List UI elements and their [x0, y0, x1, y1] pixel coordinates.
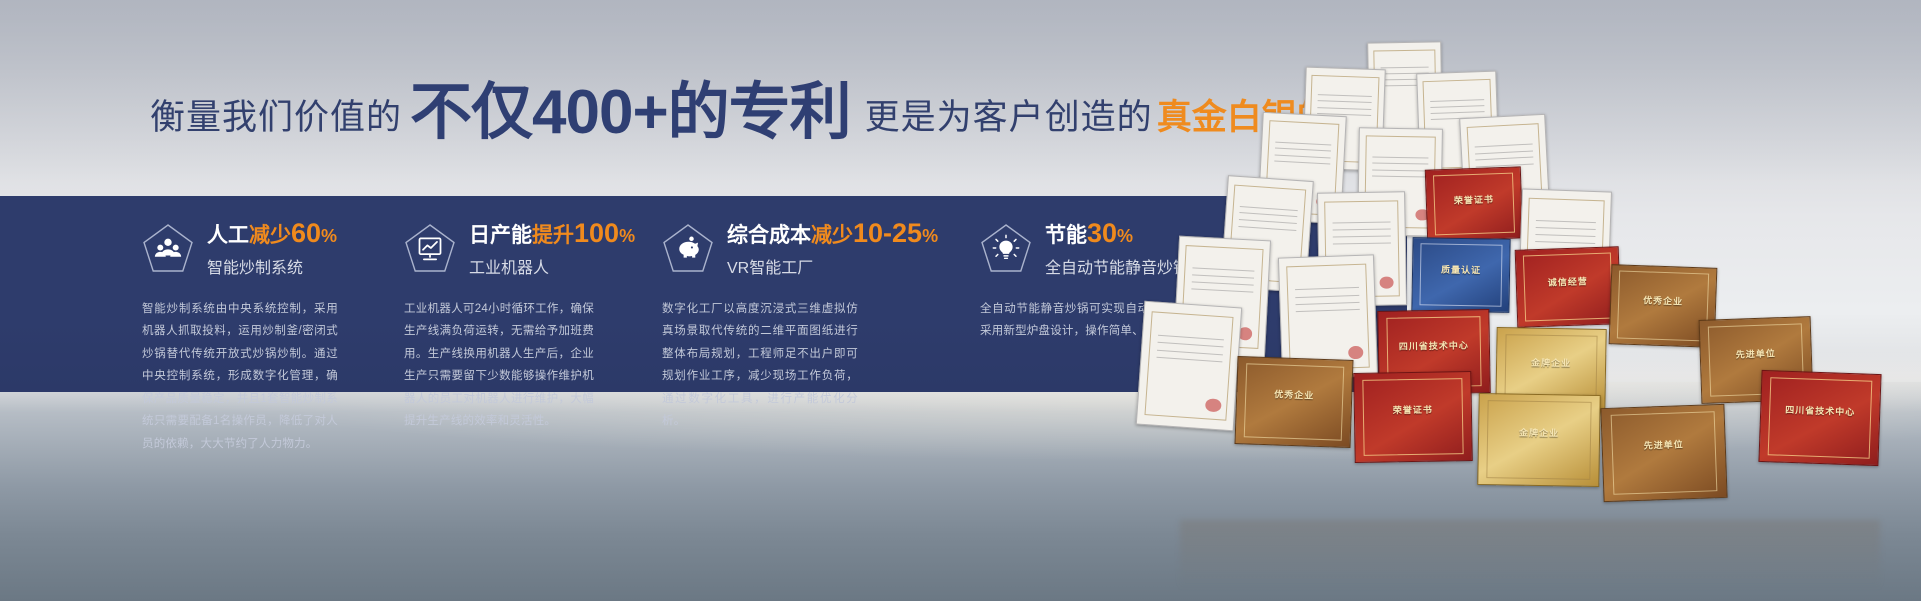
feature-title-action: 减少 [249, 224, 291, 247]
feature-title-value: 10-25 [853, 218, 922, 248]
feature-subtitle: 智能炒制系统 [207, 254, 337, 278]
feature-item-cost: 综合成本减少10-25% VR智能工厂 数字化工厂以高度沉浸式三维虚拟仿真场景取… [662, 196, 930, 392]
chart-board-icon [404, 223, 456, 273]
lightbulb-icon [980, 223, 1032, 273]
feature-title: 综合成本减少10-25% [727, 218, 938, 249]
certificate-label: 四川省技术中心 [1379, 338, 1489, 353]
feature-header: 人工减少60% 智能炒制系统 [142, 220, 408, 276]
feature-title-prefix: 日产能 [469, 224, 532, 247]
banner-stage: 衡量我们价值的 不仅400+的专利 更是为客户创造的 真金白银的效益 [0, 0, 1921, 601]
feature-body: 工业机器人可24小时循环工作，确保生产线满负荷运转，无需给予加班费用。生产线换用… [404, 298, 594, 433]
feature-body: 智能炒制系统由中央系统控制，采用机器人抓取投料，运用炒制釜/密闭式炒锅替代传统开… [142, 298, 338, 455]
certificate-item: 诚信经营 [1515, 246, 1622, 328]
feature-subtitle: VR智能工厂 [727, 254, 938, 278]
feature-body: 数字化工厂以高度沉浸式三维虚拟仿真场景取代传统的二维平面图纸进行整体布局规划，工… [662, 298, 858, 433]
piggy-bank-icon [662, 223, 714, 273]
certificate-label: 质量认证 [1413, 263, 1509, 278]
feature-titles: 日产能提升100% 工业机器人 [469, 218, 635, 278]
feature-subtitle: 工业机器人 [469, 254, 635, 278]
certificate-item: 四川省技术中心 [1758, 370, 1881, 466]
certificate-item: 质量认证 [1411, 237, 1510, 313]
certificate-item: 先进单位 [1600, 404, 1727, 502]
feature-title-prefix: 节能 [1045, 224, 1087, 247]
feature-title: 日产能提升100% [469, 218, 635, 249]
headline-lead: 衡量我们价值的 [150, 100, 402, 135]
headline-middle: 更是为客户创造的 [859, 100, 1153, 135]
feature-header: 日产能提升100% 工业机器人 [404, 220, 652, 276]
feature-title: 人工减少60% [207, 218, 337, 249]
certificate-item: 金牌企业 [1477, 393, 1601, 487]
feature-title-value: 60 [291, 218, 321, 248]
certificate-item [1136, 301, 1242, 432]
headline-emphasis: 不仅400+的专利 [402, 82, 859, 144]
feature-title-action: 提升 [532, 224, 574, 247]
certificate-label: 金牌企业 [1497, 355, 1605, 370]
feature-title-prefix: 人工 [207, 224, 249, 247]
feature-title-value: 100 [574, 218, 619, 248]
certificate-item: 荣誉证书 [1353, 371, 1473, 463]
feature-title-unit: % [1117, 226, 1133, 246]
feature-titles: 人工减少60% 智能炒制系统 [207, 218, 337, 278]
feature-title-unit: % [321, 226, 337, 246]
certificate-label: 荣誉证书 [1355, 402, 1471, 417]
certificate-item: 优秀企业 [1234, 356, 1353, 448]
feature-title-unit: % [922, 226, 938, 246]
feature-header: 综合成本减少10-25% VR智能工厂 [662, 220, 930, 276]
certificate-label: 金牌企业 [1479, 425, 1599, 440]
people-group-icon [142, 223, 194, 273]
feature-item-labor: 人工减少60% 智能炒制系统 智能炒制系统由中央系统控制，采用机器人抓取投料，运… [142, 196, 408, 392]
feature-title-prefix: 综合成本 [727, 224, 811, 247]
feature-title-unit: % [619, 226, 635, 246]
feature-titles: 综合成本减少10-25% VR智能工厂 [727, 218, 938, 278]
certificate-wall: 荣誉证书 质量认证 诚信经营 优秀企业 四川省技术中心 金牌企业 先进单位 优秀… [1140, 42, 1921, 522]
feature-item-capacity: 日产能提升100% 工业机器人 工业机器人可24小时循环工作，确保生产线满负荷运… [404, 196, 652, 392]
feature-title-value: 30 [1087, 218, 1117, 248]
feature-title-action: 减少 [811, 224, 853, 247]
certificate-item: 荣誉证书 [1425, 166, 1523, 241]
wall-reflection [1180, 520, 1880, 590]
